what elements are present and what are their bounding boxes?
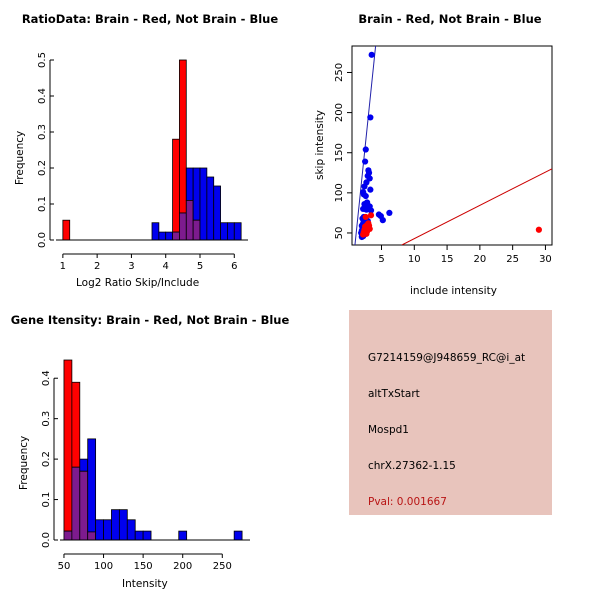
x-tick-label: 4 <box>163 261 169 272</box>
histogram-bar-overlap <box>179 213 186 240</box>
y-tick-label: 0.3 <box>37 124 48 140</box>
y-tick-label: 150 <box>334 143 345 162</box>
histogram-bar <box>179 60 186 213</box>
y-tick-label: 0.2 <box>37 160 48 176</box>
histogram-bar <box>104 520 112 540</box>
scatter-point <box>363 193 369 199</box>
scatter-point <box>369 52 375 58</box>
gene-histogram-panel: Gene Itensity: Brain - Red, Not Brain - … <box>0 300 300 600</box>
histogram-bar <box>64 360 72 531</box>
histogram-bar <box>200 168 207 240</box>
histogram-bar <box>72 382 80 467</box>
regression-line <box>402 169 552 245</box>
x-tick-label: 25 <box>506 254 519 265</box>
histogram-bar <box>152 223 159 240</box>
event-type-text: altTxStart <box>368 388 420 400</box>
histogram-bar <box>127 520 135 540</box>
x-tick-label: 6 <box>231 261 237 272</box>
y-tick-label: 0.5 <box>37 52 48 68</box>
scatter-points <box>358 52 542 240</box>
histogram-bar <box>207 177 214 240</box>
histogram-bar <box>234 531 242 540</box>
histogram-bar <box>96 520 104 540</box>
y-tick-label: 0.1 <box>41 492 52 508</box>
histogram-bar <box>63 220 70 240</box>
scatter-point <box>368 212 374 218</box>
locus-text: chrX.27362-1.15 <box>368 460 456 472</box>
histogram-bar <box>234 223 241 240</box>
x-tick-label: 150 <box>134 561 153 572</box>
y-tick-label: 0.4 <box>37 88 48 104</box>
histogram-bar-overlap <box>88 532 96 540</box>
scatter-point <box>367 187 373 193</box>
ratio-histogram-panel: RatioData: Brain - Red, Not Brain - Blue… <box>0 0 300 300</box>
probe-id-text: G7214159@J948659_RC@i_at <box>368 352 525 364</box>
x-tick-label: 30 <box>539 254 552 265</box>
y-tick-label: 0.0 <box>37 232 48 248</box>
x-tick-label: 100 <box>94 561 113 572</box>
x-tick-label: 200 <box>173 561 192 572</box>
x-tick-label: 15 <box>441 254 454 265</box>
histogram-bar-overlap <box>64 531 72 540</box>
y-tick-label: 0.4 <box>41 370 52 386</box>
x-tick-label: 50 <box>58 561 71 572</box>
histogram-bar <box>119 510 127 540</box>
scatter-point <box>367 114 373 120</box>
gene-symbol-text: Mospd1 <box>368 424 409 436</box>
regression-lines <box>355 46 552 245</box>
histogram-bar-overlap <box>186 200 193 240</box>
histogram-bar <box>143 531 151 540</box>
histogram-bar <box>214 186 221 240</box>
x-tick-label: 5 <box>197 261 203 272</box>
x-tick-label: 3 <box>128 261 134 272</box>
histogram-bar <box>179 531 187 540</box>
scatter-point <box>362 158 368 164</box>
histogram-bar <box>173 139 180 232</box>
histogram-bar-overlap <box>173 232 180 240</box>
histogram-bar <box>135 531 143 540</box>
histogram-bar <box>166 232 173 240</box>
histogram-bar <box>193 168 200 220</box>
histogram-bar <box>88 439 96 532</box>
gene-info-box: G7214159@J948659_RC@i_at altTxStart Mosp… <box>349 310 552 515</box>
x-tick-label: 1 <box>60 261 66 272</box>
scatter-panel: Brain - Red, Not Brain - Blue skip inten… <box>300 0 600 300</box>
scatter-point <box>536 227 542 233</box>
histogram-bar-overlap <box>72 467 80 540</box>
histogram-bar <box>111 510 119 540</box>
x-tick-label: 10 <box>408 254 421 265</box>
histogram-bar <box>159 232 166 240</box>
gene-info-panel: G7214159@J948659_RC@i_at altTxStart Mosp… <box>300 300 600 600</box>
pval-text: Pval: 0.001667 <box>368 496 447 508</box>
y-tick-label: 0.2 <box>41 451 52 467</box>
scatter-point <box>361 183 367 189</box>
histogram-bar <box>221 223 228 240</box>
histogram-bar <box>186 168 193 200</box>
y-tick-label: 0.1 <box>37 196 48 212</box>
x-tick-label: 2 <box>94 261 100 272</box>
ratio-histogram-bars <box>63 60 241 240</box>
x-tick-label: 5 <box>378 254 384 265</box>
scatter-point <box>363 214 369 220</box>
histogram-bar-overlap <box>80 471 88 540</box>
x-tick-label: 20 <box>474 254 487 265</box>
y-tick-label: 100 <box>334 183 345 202</box>
gene-histogram-plot: 0.00.10.20.30.450100150200250 <box>0 300 300 600</box>
y-tick-label: 50 <box>334 227 345 240</box>
histogram-bar-overlap <box>193 220 200 240</box>
y-tick-label: 0.0 <box>41 532 52 548</box>
y-tick-label: 200 <box>334 103 345 122</box>
histogram-bar <box>80 459 88 471</box>
y-tick-label: 0.3 <box>41 411 52 427</box>
scatter-point <box>386 210 392 216</box>
r-plot-canvas: RatioData: Brain - Red, Not Brain - Blue… <box>0 0 600 600</box>
scatter-point <box>363 146 369 152</box>
y-tick-label: 250 <box>334 63 345 82</box>
gene-intensity-histogram-bars <box>64 360 242 540</box>
scatter-point <box>360 231 366 237</box>
scatter-point <box>380 217 386 223</box>
scatter-plot: 5010015020025051015202530 <box>300 0 600 300</box>
ratio-histogram-plot: 0.00.10.20.30.40.5123456 <box>0 0 300 300</box>
x-tick-label: 250 <box>213 561 232 572</box>
histogram-bar <box>227 223 234 240</box>
